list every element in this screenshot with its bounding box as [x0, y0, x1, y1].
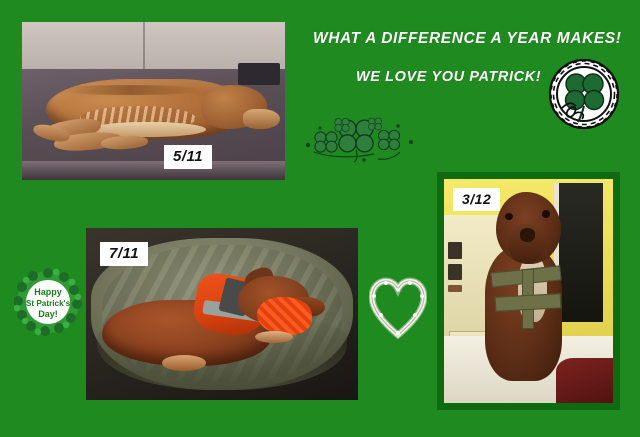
badge-line-2: St Patrick's: [26, 299, 71, 308]
table-edge: [22, 161, 285, 180]
dog-nose: [520, 228, 535, 241]
date-caption-5-11: 5/11: [164, 145, 212, 169]
photo-recovering-dog-bed: 7/11: [86, 228, 358, 400]
badge-line-3: Day!: [38, 309, 58, 319]
date-caption-7-11: 7/11: [100, 242, 148, 266]
headline-line-1: WHAT A DIFFERENCE A YEAR MAKES!: [313, 30, 622, 48]
badge-line-1: Happy: [34, 287, 62, 297]
celtic-knot-clover-icon: [548, 58, 620, 130]
shelf-compartment: [448, 264, 463, 280]
dog-muzzle: [243, 109, 280, 130]
orange-toy: [257, 297, 311, 335]
beaded-heart-wreath-icon: [369, 277, 427, 339]
photo-3-scene: [444, 179, 613, 403]
shelf-compartment: [448, 242, 463, 259]
collage-canvas: WHAT A DIFFERENCE A YEAR MAKES! WE LOVE …: [0, 0, 640, 437]
photo-1-scene: [22, 22, 285, 180]
dog-spine: [59, 85, 201, 94]
date-caption-3-12: 3/12: [453, 188, 500, 211]
dark-object: [238, 63, 280, 85]
photo-before-emaciated: 5/11: [22, 22, 285, 180]
photo-after-frame: 3/12: [437, 172, 620, 410]
headline-line-2: WE LOVE YOU PATRICK!: [356, 69, 541, 85]
st-patricks-day-badge: Happy St Patrick's Day!: [14, 268, 82, 336]
dog-paw: [162, 355, 206, 370]
shelf-compartment: [448, 285, 463, 292]
photo-after-healthy: 3/12: [444, 179, 613, 403]
red-blanket: [556, 358, 613, 403]
shamrock-cluster-icon: [300, 112, 418, 164]
